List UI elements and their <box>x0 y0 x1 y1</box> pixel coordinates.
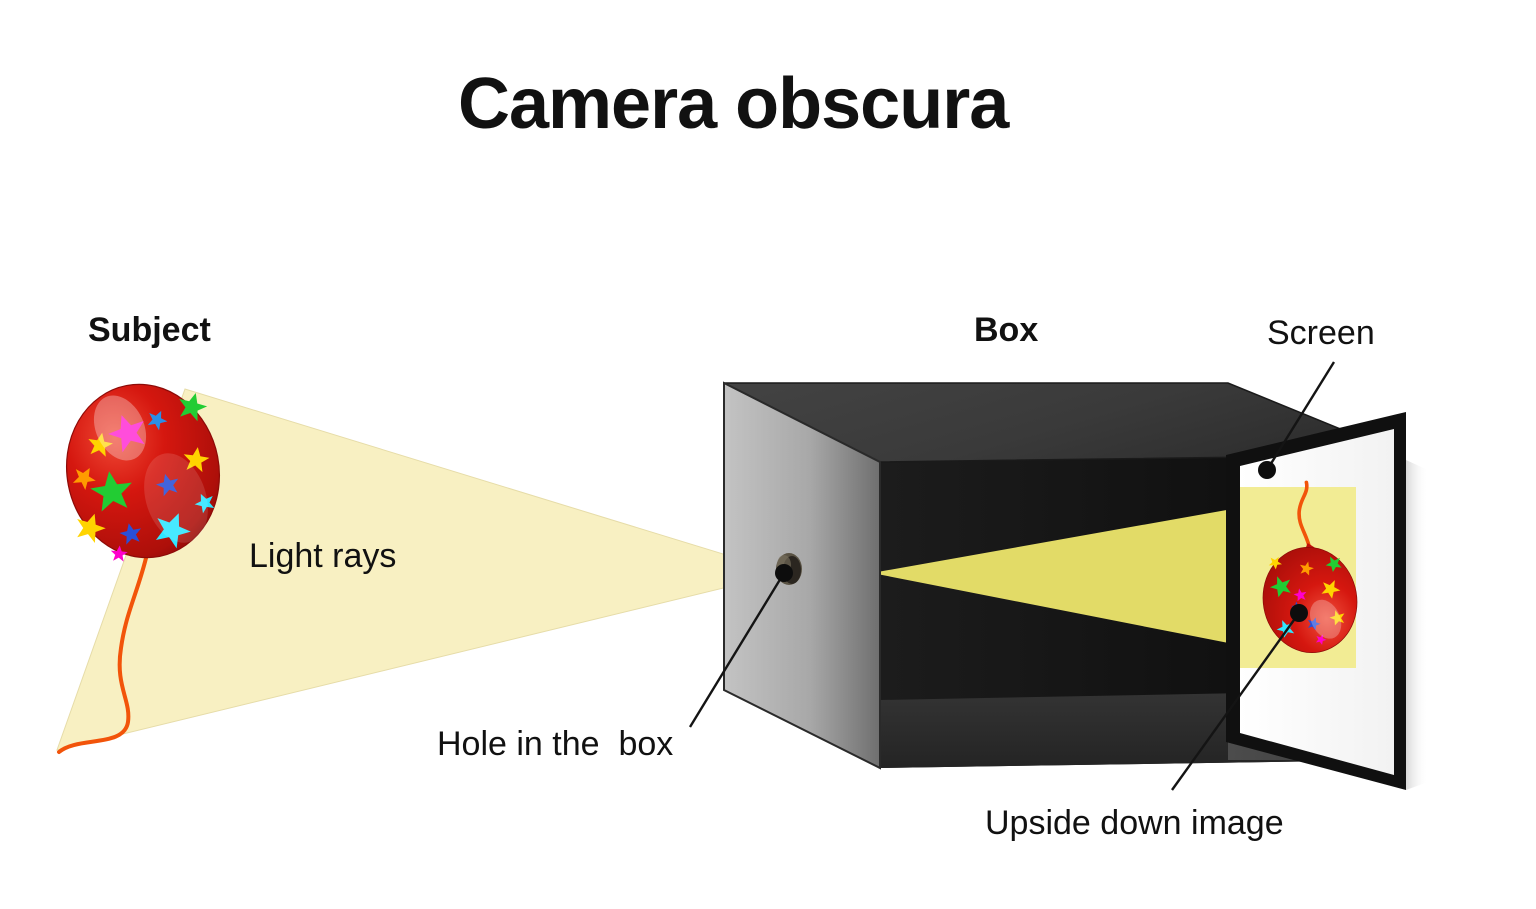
hole-marker-dot <box>775 564 793 582</box>
box-drop-shadow <box>1406 460 1428 790</box>
screen-marker-dot <box>1258 461 1276 479</box>
label-screen: Screen <box>1267 316 1375 350</box>
page-title: Camera obscura <box>458 68 1008 140</box>
label-upside-down-image: Upside down image <box>985 806 1284 840</box>
label-box: Box <box>974 313 1038 347</box>
label-subject: Subject <box>88 313 211 347</box>
label-light-rays: Light rays <box>249 539 396 573</box>
label-hole-in-the-box: Hole in the box <box>437 727 673 761</box>
image-marker-dot <box>1290 604 1308 622</box>
camera-obscura-box <box>724 383 1428 790</box>
diagram-canvas: Camera obscura Subject Light rays Hole i… <box>0 0 1536 909</box>
